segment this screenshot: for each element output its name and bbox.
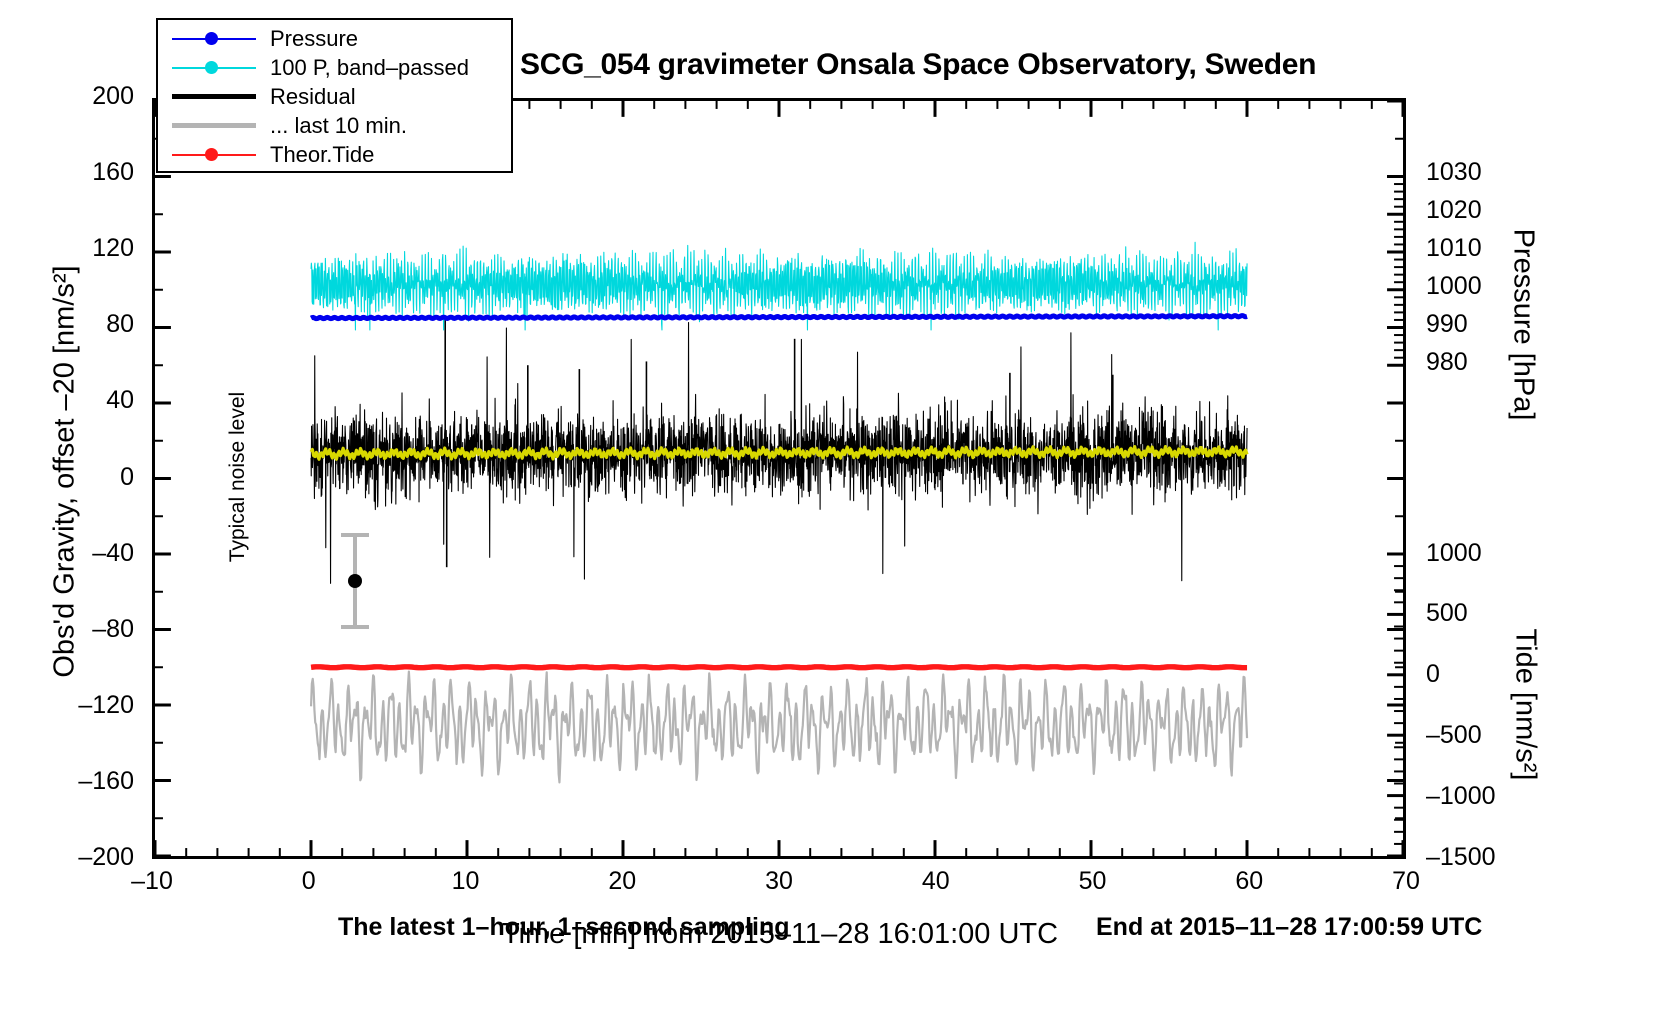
legend-line	[172, 123, 256, 128]
legend-item-theor-tide[interactable]: Theor.Tide	[158, 140, 511, 169]
series-pressure	[311, 316, 1247, 319]
axis-tick-label: 40	[891, 867, 981, 896]
legend-label-theor-tide: Theor.Tide	[256, 142, 374, 168]
legend-dot-icon	[205, 148, 218, 161]
legend-label-residual: Residual	[256, 84, 356, 110]
legend-swatch-theor-tide	[172, 146, 256, 164]
legend-item-100p-band-passed[interactable]: 100 P, band–passed	[158, 53, 511, 82]
axis-tick-label: 60	[1204, 867, 1294, 896]
plot-canvas	[155, 101, 1403, 856]
legend-dot-icon	[205, 61, 218, 74]
legend-label-pressure: Pressure	[256, 26, 358, 52]
axis-tick-label: 70	[1361, 867, 1451, 896]
legend-swatch-100p-band-passed	[172, 59, 256, 77]
x-axis-title: Time [min] from 2015–11–28 16:01:00 UTC	[180, 918, 1380, 951]
y-axis-right-title-tide: Tide [nm/s²]	[1509, 510, 1542, 900]
legend-label-100p-band-passed: 100 P, band–passed	[256, 55, 469, 81]
series-theor-tide	[311, 667, 1247, 668]
axis-tick-label: 10	[421, 867, 511, 896]
axis-tick-label: 0	[264, 867, 354, 896]
y-axis-title: Obs'd Gravity, offset –20 [nm/s²]	[49, 92, 82, 852]
plot-area: The latest 1–hour, 1–second sampling End…	[152, 98, 1406, 859]
legend-item-residual[interactable]: Residual	[158, 82, 511, 111]
legend-swatch-residual	[172, 88, 256, 106]
series-last-10-min	[311, 672, 1247, 783]
y-axis-right-title-pressure: Pressure [hPa]	[1507, 115, 1540, 535]
legend-dot-icon	[205, 32, 218, 45]
noise-level-marker	[325, 531, 385, 631]
legend-label-last-10-min: ... last 10 min.	[256, 113, 407, 139]
noise-level-label: Typical noise level	[226, 377, 250, 577]
chart-page: SCG_054 gravimeter Onsala Space Observat…	[0, 0, 1660, 1020]
legend-line	[172, 94, 256, 99]
page-title: SCG_054 gravimeter Onsala Space Observat…	[520, 48, 1400, 82]
axis-tick-label: 20	[577, 867, 667, 896]
legend-item-pressure[interactable]: Pressure	[158, 24, 511, 53]
legend: Pressure 100 P, band–passed Residual ...…	[156, 18, 513, 173]
axis-tick-label: –10	[107, 867, 197, 896]
legend-swatch-pressure	[172, 30, 256, 48]
legend-item-last-10-min[interactable]: ... last 10 min.	[158, 111, 511, 140]
axis-tick-label: 50	[1048, 867, 1138, 896]
axis-tick-label: 30	[734, 867, 824, 896]
legend-swatch-last-10-min	[172, 117, 256, 135]
